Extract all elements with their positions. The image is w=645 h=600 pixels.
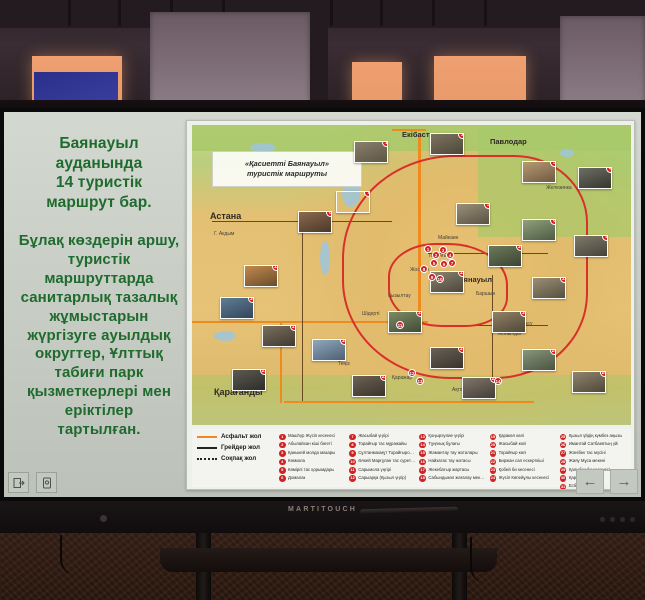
prev-slide-button[interactable]: ← [576,469,604,494]
site-badge: 1 [382,141,388,147]
p2-line-11: тартылған. [10,421,188,440]
legend-item[interactable]: 26Имантай Сатбаевтың үйі [560,441,626,448]
legend-site-name: Биржан сал ескерткіші [499,458,544,463]
legend-number: 19 [490,434,497,441]
legend-item[interactable]: 4Көкмола [279,458,345,465]
legend-site-name: Көмірлі тас қорымдары [288,467,334,472]
legend-item[interactable]: 3Қаныкей молда мазары [279,450,345,457]
site-photo[interactable]: 11 [244,265,278,287]
legend-number: 1 [279,434,286,441]
site-photo[interactable]: 3 [522,161,556,183]
legend-item[interactable]: 24Жүсіп Көпейұлы кесенесі [490,475,556,482]
site-photo[interactable]: 13 [532,277,566,299]
site-photo[interactable]: 2 [430,133,464,155]
legend-site-name: Жүсіп Көпейұлы кесенесі [499,475,549,480]
legend-number: 28 [560,459,567,466]
site-badge: 2 [458,133,464,139]
legend-item[interactable]: 9Сұлтанмахмұт Торайғыров кесенесі [349,450,415,457]
site-photo[interactable]: 8 [298,211,332,233]
power-led-icon [100,515,107,522]
map-legend: Асфальт жол Грейдер жол Соқпақ жол [192,429,631,487]
site-badge: 17 [290,325,296,331]
legend-number: 14 [419,442,426,449]
map-pin[interactable]: 10 [436,275,444,283]
next-slide-button[interactable]: → [610,469,638,494]
legend-item[interactable]: 27Жәнібек тас мүсіні [560,450,626,457]
legend-column-1: 1Машһүр Жүсіп кесенесі 2Абылайхан кіші б… [279,433,345,483]
legend-number: 2 [279,442,286,449]
legend-item[interactable]: 13Қоңырәулие үңгірі [419,433,485,440]
legend-site-name: Тұңғиық бұлағы [428,441,459,446]
site-badge: 11 [272,265,278,271]
legend-item[interactable]: 10Әлкей Марғұлан тас суреттері [349,458,415,465]
legend-label: Соқпақ жол [221,455,256,462]
legend-number: 17 [419,467,426,474]
site-badge: 22 [380,375,386,381]
p2-line-10: еріктілер [10,402,188,421]
legend-number: 15 [419,450,426,457]
legend-item[interactable]: 1Машһүр Жүсіп кесенесі [279,433,345,440]
grader-line-icon [197,447,217,449]
map-title-line-1: «Қасиетті Баянауыл» [245,159,329,169]
legend-number: 11 [349,467,356,474]
legend-site-name: Әлкей Марғұлан тас суреттері [358,458,415,463]
signal-cable [470,537,500,583]
p2-line-6: жүргізуге ауылдық [10,327,188,346]
site-photo[interactable]: 9 [574,235,608,257]
exit-icon [13,477,25,489]
legend-number: 20 [490,442,497,449]
slide-paragraph-2: Бұлақ көздерін аршу, туристік маршруттар… [10,232,188,440]
site-photo[interactable]: 18 [312,339,346,361]
site-badge: 20 [550,349,556,355]
site-badge: 7 [364,191,370,197]
legend-label: Грейдер жол [221,444,260,451]
power-cable [60,535,100,575]
site-photo[interactable]: 21 [232,369,266,391]
site-badge: 3 [550,161,556,167]
slide-control-buttons [8,472,57,493]
legend-number: 8 [349,442,356,449]
legend-site-name: Қызыл үйдің күмбез аңызы [569,433,623,438]
legend-site-name: Қобей би кесенесі [499,467,535,472]
legend-item[interactable]: 2Абылайхан кіші бөгеті [279,441,345,448]
site-photo[interactable]: 4 [578,167,612,189]
legend-item[interactable]: 6Домалақ [279,475,345,482]
place-label: Теңіз [338,361,350,367]
site-badge: 19 [458,347,464,353]
bezel-dot[interactable] [620,517,625,522]
map-pin[interactable]: 11 [396,321,404,329]
bezel-dot[interactable] [600,517,605,522]
legend-site-name: Жаяу Мұса мекені [569,458,606,463]
legend-column-3: 13Қоңырәулие үңгірі 14Тұңғиық бұлағы 15Ж… [419,433,485,483]
legend-road-sokpak: Соқпақ жол [197,455,275,462]
site-badge: 15 [416,311,422,317]
place-label: Қызылтау [388,293,411,299]
place-label: Баршын [476,291,495,297]
legend-site-name: Қоңырәулие үңгірі [428,433,464,438]
site-badge: 14 [248,297,254,303]
legend-site-name: Сұлтанмахмұт Торайғыров кесенесі [358,450,415,455]
legend-item[interactable]: 16Найзатас тау жотасы [419,458,485,465]
legend-number: 6 [279,475,286,482]
map-pin[interactable]: 9 [428,273,436,281]
legend-site-name: Торайғыр көлі [499,450,527,455]
site-badge: 13 [560,277,566,283]
stand-shelf [160,548,497,572]
p2-line-8: табиғи парк [10,364,188,383]
p2-line-1: Бұлақ көздерін аршу, [10,232,188,251]
place-label: Железинка [546,185,572,191]
site-photo[interactable]: 14 [220,297,254,319]
legend-item[interactable]: 8Торайғыр тас мұражайы [349,441,415,448]
legend-item[interactable]: 21Торайғыр көлі [490,450,556,457]
classroom-scene: Баянауыл ауданында 14 туристік маршрут б… [0,0,645,600]
presentation-slide: Баянауыл ауданында 14 туристік маршрут б… [4,112,641,497]
legend-item[interactable]: 11Сарымола үңгірі [349,467,415,474]
map-pin[interactable]: 5 [430,259,438,267]
legend-item[interactable]: 12Сарыарқа (Қызыл үңгір) [349,475,415,482]
legend-item[interactable]: 14Тұңғиық бұлағы [419,441,485,448]
interactive-display: Баянауыл ауданында 14 туристік маршрут б… [0,108,645,533]
legend-site-name: Домалақ [288,475,305,480]
legend-site-name: Машһүр Жүсіп кесенесі [288,433,335,438]
legend-number: 25 [560,434,567,441]
site-badge: 4 [606,167,612,173]
site-photo[interactable]: 16 [492,311,526,333]
site-badge: 8 [326,211,332,217]
site-badge: 10 [516,245,522,251]
legend-number: 4 [279,459,286,466]
legend-item[interactable]: 22Биржан сал ескерткіші [490,458,556,465]
legend-site-name: Имантай Сатбаевтың үйі [569,441,619,446]
legend-number: 5 [279,467,286,474]
floor-carpet [0,533,645,600]
site-photo[interactable]: 15 [388,311,422,333]
map-pin[interactable]: 1 [424,245,432,253]
exit-presentation-button[interactable] [8,472,29,493]
site-photo[interactable]: 10 [488,245,522,267]
legend-item[interactable]: 19Қаракөл көлі [490,433,556,440]
display-brand-label: MARTITOUCH [0,506,645,513]
legend-site-name: Жәнібек тас мүсіні [569,450,606,455]
legend-site-name: Қаракөл көлі [499,433,524,438]
legend-number: 30 [560,475,567,482]
site-badge: 6 [550,219,556,225]
p1-line-1: Баянауыл [10,134,188,154]
p2-line-7: округтер, Ұлттық [10,345,188,364]
place-label: Шідерті [362,311,379,317]
legend-site-name: Найзатас тау жотасы [428,458,470,463]
legend-site-name: Сарымола үңгірі [358,467,391,472]
city-label-astana: Астана [210,211,241,221]
site-photo[interactable]: 6 [522,219,556,241]
bezel-dot[interactable] [630,517,635,522]
display-options-button[interactable] [36,472,57,493]
legend-number: 18 [419,475,426,482]
bezel-buttons[interactable] [600,517,635,522]
map-pin[interactable]: 6 [440,260,448,268]
map-pin[interactable]: 12 [408,369,416,377]
p2-line-4: санитарлық тазалық [10,289,188,308]
legend-item[interactable]: 7Жасыбай үңгірі [349,433,415,440]
legend-item[interactable]: 25Қызыл үйдің күмбез аңызы [560,433,626,440]
asphalt-line-icon [197,436,217,438]
display-screen: Баянауыл ауданында 14 туристік маршрут б… [4,112,641,497]
p2-line-2: туристік [10,251,188,270]
site-photo[interactable]: 17 [262,325,296,347]
place-label: Майкаин [438,235,458,241]
device-icon [41,477,53,489]
legend-number: 26 [560,442,567,449]
site-badge: 18 [340,339,346,345]
legend-site-name: Абылайхан кіші бөгеті [288,441,332,446]
p2-line-9: қызметкерлері мен [10,383,188,402]
legend-number: 21 [490,450,497,457]
legend-site-name: Қаныкей молда мазары [288,450,335,455]
legend-column-4: 19Қаракөл көлі 20Жасыбай көлі 21Торайғыр… [490,433,556,483]
map-title-line-2: туристік маршруты [247,169,327,179]
slide-navigation: ← → [576,469,638,494]
map-pin[interactable]: 13 [416,377,424,385]
site-photo[interactable]: 19 [430,347,464,369]
legend-item[interactable]: 18Сабындыкөл жағалау мекені [419,475,485,482]
legend-number: 27 [560,450,567,457]
map-title: «Қасиетті Баянауыл» туристік маршруты [212,151,362,187]
legend-column-2: 7Жасыбай үңгірі 8Торайғыр тас мұражайы 9… [349,433,415,483]
trail-line-icon [197,458,217,460]
p2-line-3: маршруттарда [10,270,188,289]
site-photo[interactable]: 5 [456,203,490,225]
legend-number: 16 [419,459,426,466]
legend-number: 31 [560,484,567,490]
legend-site-name: Жасыбай үңгірі [358,433,388,438]
legend-item[interactable]: 28Жаяу Мұса мекені [560,458,626,465]
map-pin[interactable]: 8 [420,265,428,273]
site-badge: 21 [260,369,266,375]
legend-item[interactable]: 15Жамантау тау жоталары [419,450,485,457]
p2-line-5: жұмыстарын [10,308,188,327]
slide-paragraph-1: Баянауыл ауданында 14 туристік маршрут б… [10,134,188,212]
place-label: Г. Акдым [214,231,234,237]
map-pin[interactable]: 4 [446,251,454,259]
site-photo[interactable]: 23 [462,377,496,399]
legend-site-name: Жекебатыр жартасы [428,467,469,472]
map-pin[interactable]: 14 [494,377,502,385]
city-label-pavlodar: Павлодар [490,137,527,146]
site-badge: 5 [484,203,490,209]
p1-line-2: ауданында [10,154,188,174]
legend-item[interactable]: 20Жасыбай көлі [490,441,556,448]
legend-site-name: Сабындыкөл жағалау мекені [428,475,485,480]
site-photo[interactable]: 22 [352,375,386,397]
legend-site-name: Торайғыр тас мұражайы [358,441,406,446]
legend-number: 24 [490,475,497,482]
legend-road-types: Асфальт жол Грейдер жол Соқпақ жол [197,433,275,483]
site-photo[interactable]: 24 [572,371,606,393]
legend-number: 10 [349,459,356,466]
bezel-dot[interactable] [610,517,615,522]
map-canvas: «Қасиетті Баянауыл» туристік маршруты Ас… [192,125,631,425]
legend-item[interactable]: 17Жекебатыр жартасы [419,467,485,474]
legend-number: 13 [419,434,426,441]
room-wall-background [0,0,645,112]
legend-site-name: Көкмола [288,458,305,463]
legend-number: 22 [490,459,497,466]
p1-line-3: 14 туристік [10,173,188,193]
legend-number: 3 [279,450,286,457]
p1-line-4: маршрут бар. [10,193,188,213]
legend-label: Асфальт жол [221,433,261,440]
legend-number: 12 [349,475,356,482]
legend-number: 23 [490,467,497,474]
site-badge: 9 [602,235,608,241]
legend-item[interactable]: 23Қобей би кесенесі [490,467,556,474]
site-badge: 24 [600,371,606,377]
map-pin[interactable]: 7 [448,259,456,267]
legend-item[interactable]: 5Көмірлі тас қорымдары [279,467,345,474]
legend-road-grader: Грейдер жол [197,444,275,451]
site-badge: 12 [458,271,464,277]
legend-site-name: Сарыарқа (Қызыл үңгір) [358,475,406,480]
site-photo[interactable]: 7 [336,191,370,213]
legend-road-asphalt: Асфальт жол [197,433,275,440]
legend-site-name: Жасыбай көлі [499,441,527,446]
slide-text-column: Баянауыл ауданында 14 туристік маршрут б… [10,134,188,440]
legend-number: 9 [349,450,356,457]
site-photo[interactable]: 1 [354,141,388,163]
legend-number: 7 [349,434,356,441]
tourist-route-map[interactable]: «Қасиетті Баянауыл» туристік маршруты Ас… [186,120,635,490]
legend-site-name: Жамантау тау жоталары [428,450,477,455]
legend-number: 29 [560,467,567,474]
site-photo[interactable]: 20 [522,349,556,371]
site-badge: 16 [520,311,526,317]
